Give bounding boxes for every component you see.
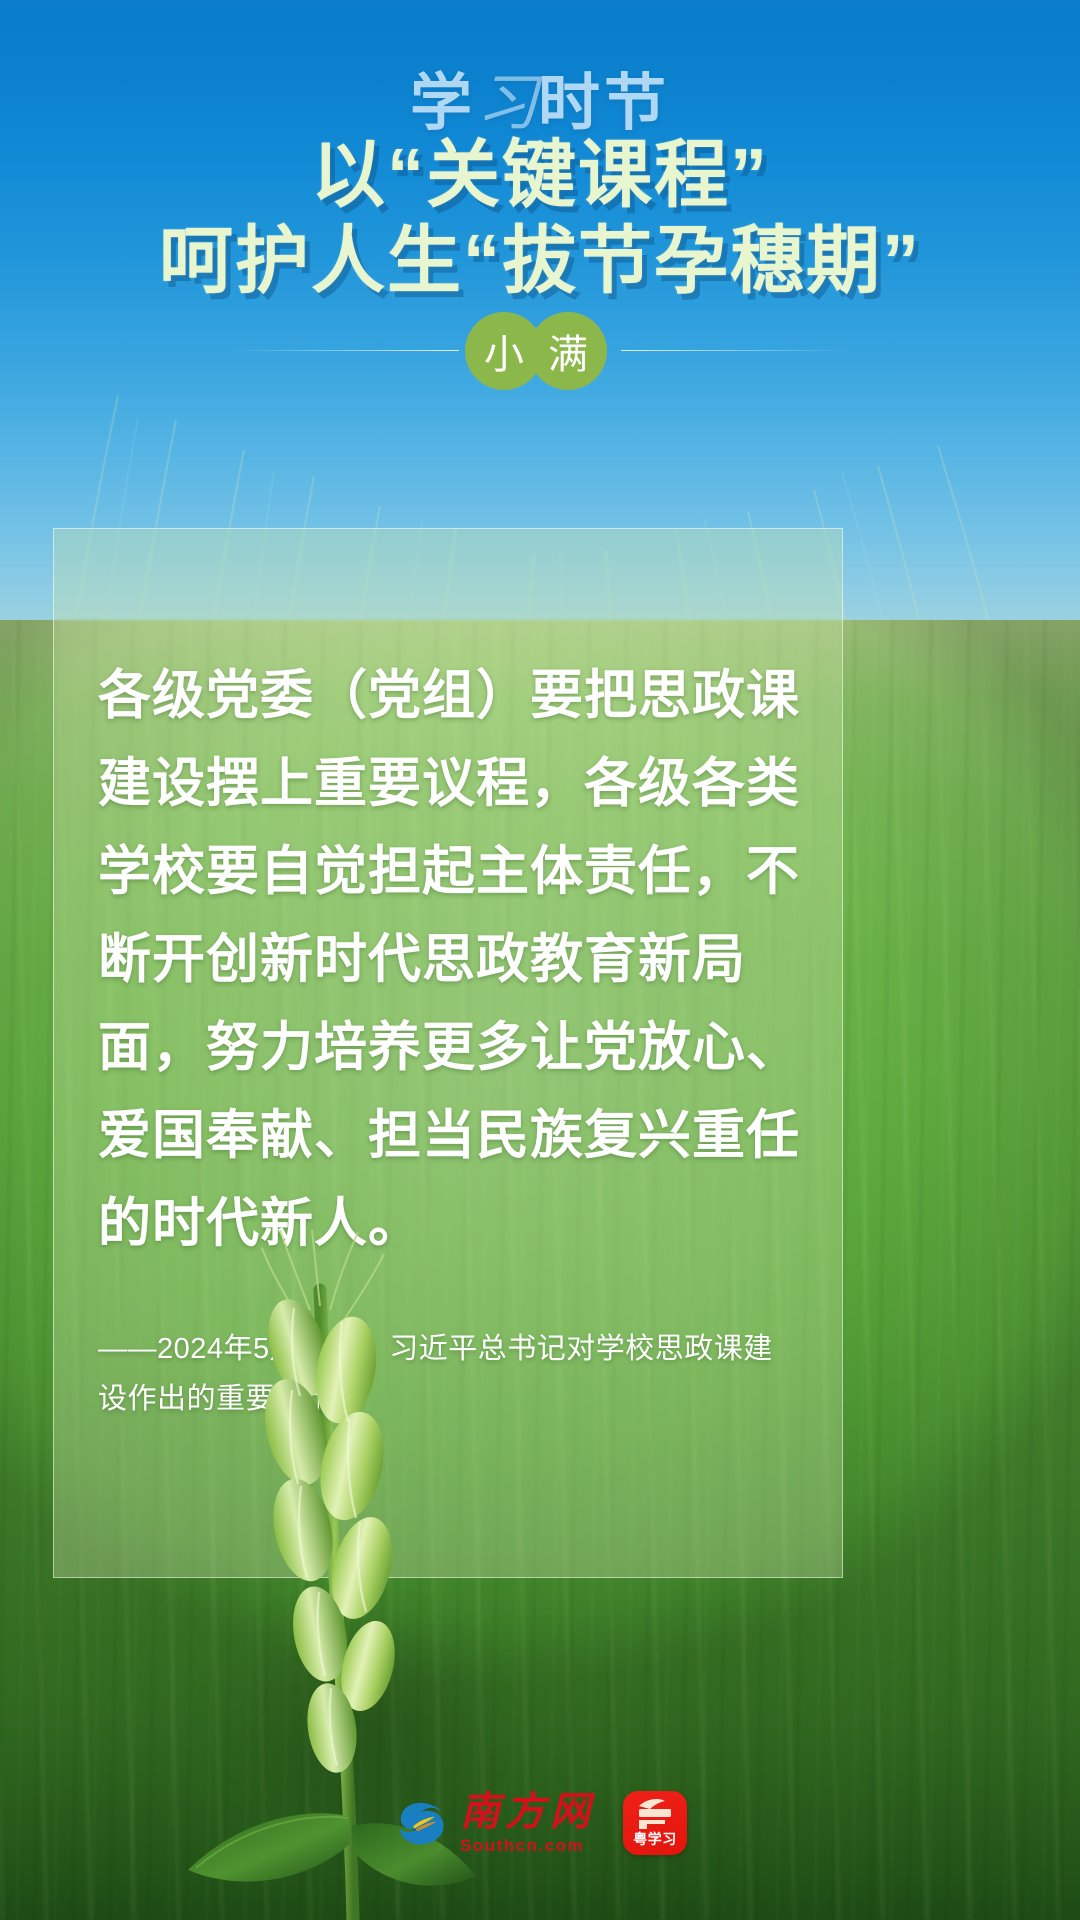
divider-line-left xyxy=(229,350,459,351)
poster-canvas: 学习时节 以“关键课程” 呵护人生“拔节孕穗期” 小 满 各级党委（党组）要把思… xyxy=(0,0,1080,1920)
brand-logo-xueshi-shijie: 学习时节 xyxy=(0,52,1080,142)
page-title-line-2: 呵护人生“拔节孕穗期” xyxy=(0,218,1080,304)
solar-term-circles: 小 满 xyxy=(465,310,615,390)
southcn-chinese-name: 南方网 xyxy=(460,1792,595,1832)
brand-logo-char-cursive: 习 xyxy=(476,70,538,138)
southcn-swoosh-icon xyxy=(393,1794,451,1852)
yuexuexi-book-icon xyxy=(632,1797,678,1833)
southcn-domain: Southcn.com xyxy=(460,1837,584,1854)
southcn-logo[interactable]: 南方网 Southcn.com xyxy=(393,1792,595,1854)
quote-text: 各级党委（党组）要把思政课建设摆上重要议程，各级各类学校要自觉担起主体责任，不断… xyxy=(98,652,808,1268)
southcn-wordmark: 南方网 Southcn.com xyxy=(460,1792,595,1854)
footer-logos: 南方网 Southcn.com 粤学习 xyxy=(0,1778,1080,1868)
page-title: 以“关键课程” 呵护人生“拔节孕穗期” xyxy=(0,132,1080,304)
yuexuexi-label: 粤学习 xyxy=(623,1829,687,1849)
brand-logo-char-rest: 时节 xyxy=(538,69,670,138)
solar-term-char-2: 满 xyxy=(529,312,607,390)
solar-term-badge: 小 满 xyxy=(0,308,1080,392)
divider-line-right xyxy=(621,350,851,351)
yuexuexi-app-icon[interactable]: 粤学习 xyxy=(623,1791,687,1855)
brand-logo-char-1: 学 xyxy=(410,69,476,138)
page-title-line-1: 以“关键课程” xyxy=(311,133,769,216)
